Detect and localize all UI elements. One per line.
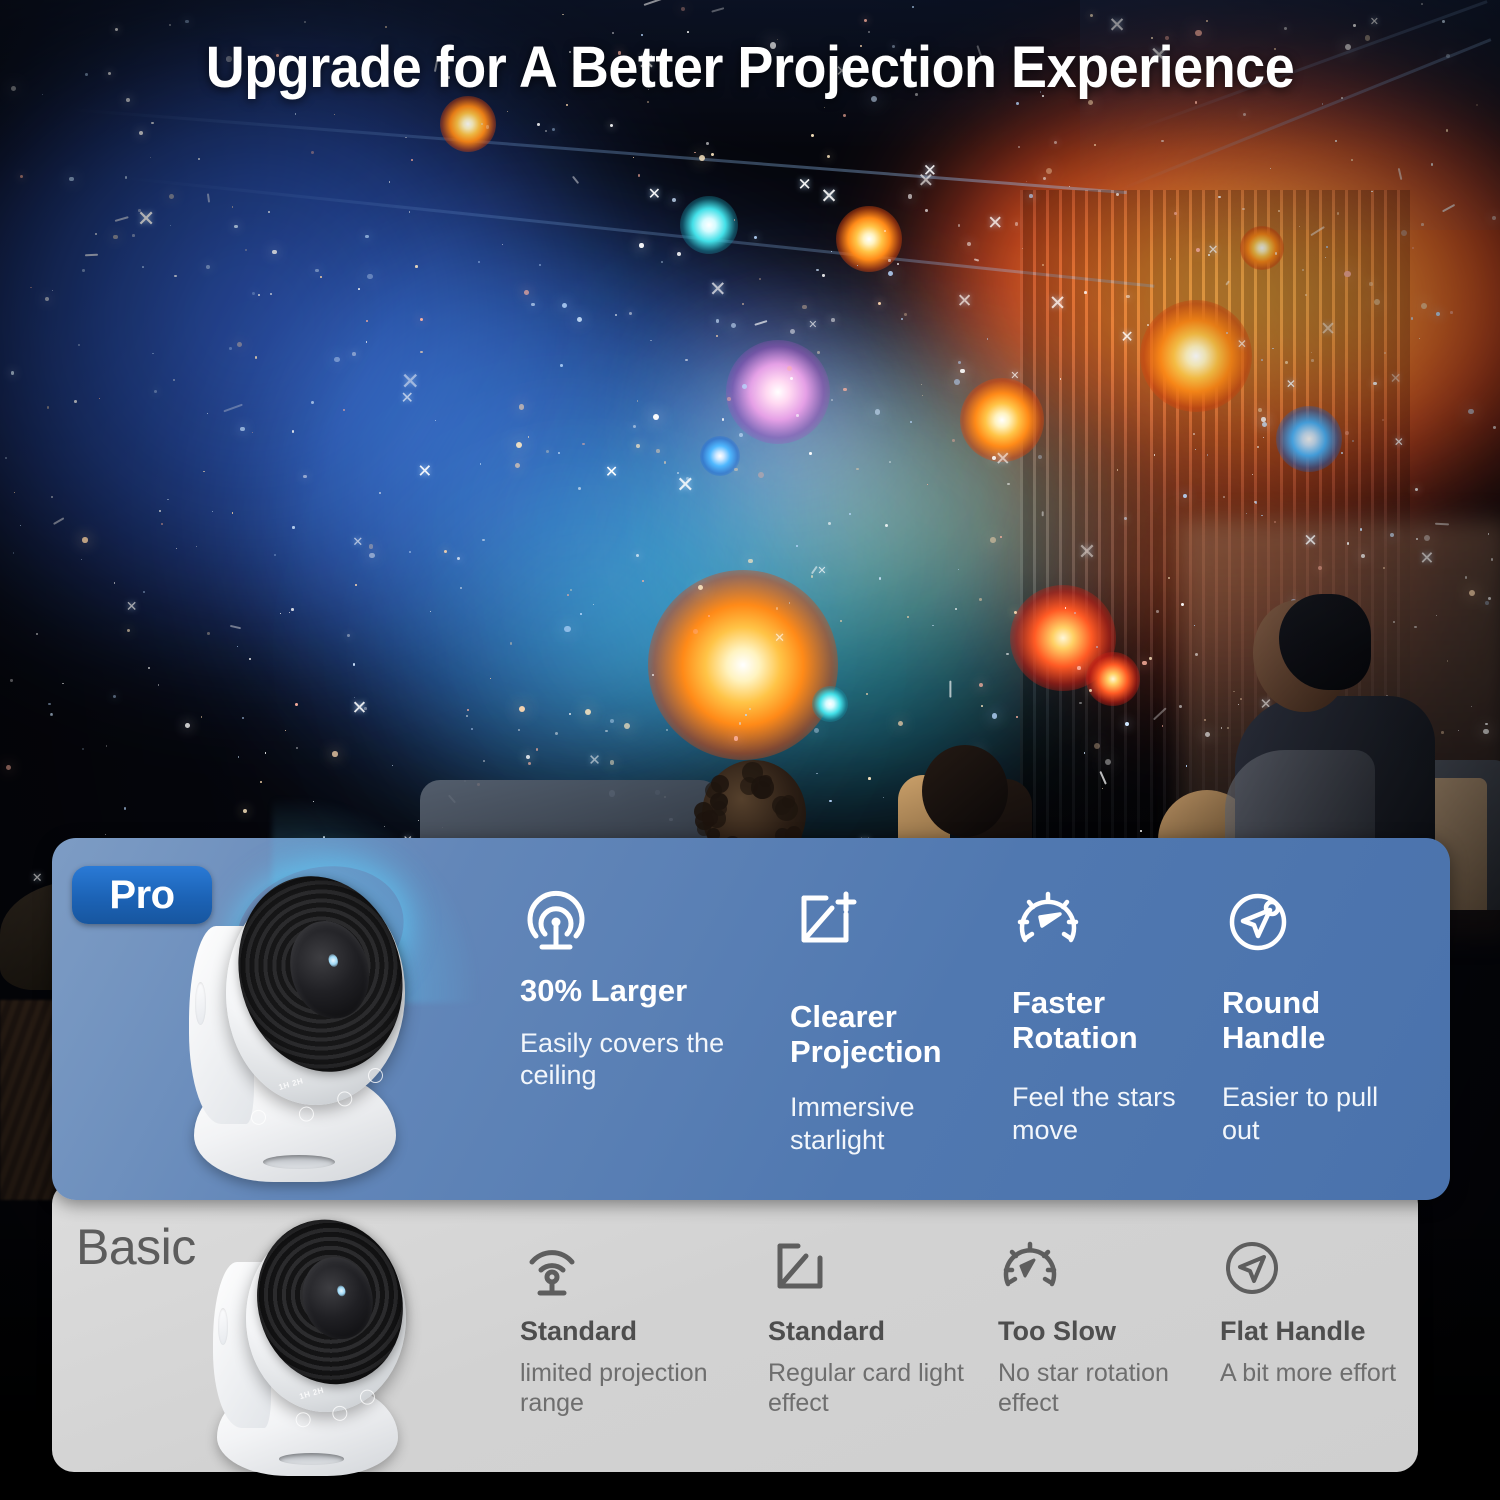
basic-feature-subtitle: A bit more effort <box>1220 1358 1402 1388</box>
round-handle-icon <box>1222 886 1414 960</box>
basic-feature-title: Standard <box>768 1316 980 1346</box>
product-comparison-graphic: ✕✕✕✕✕✕✕✕✕✕✕✕✕✕✕✕✕✕✕✕✕✕✕✕✕✕✕✕✕✕✕✕✕✕✕✕✕✕✕✕… <box>0 0 1500 1500</box>
basic-feature-2: Too Slow No star rotation effect <box>998 1236 1220 1418</box>
pro-tier-badge: Pro <box>72 866 212 924</box>
page-title: Upgrade for A Better Projection Experien… <box>53 34 1448 101</box>
broadcast-narrow-icon <box>520 1236 750 1310</box>
pro-feature-title: Clearer Projection <box>790 1000 994 1069</box>
broadcast-wide-icon <box>520 886 772 960</box>
basic-feature-title: Standard <box>520 1316 750 1346</box>
pro-feature-title: 30% Larger <box>520 974 772 1009</box>
basic-feature-1: Standard Regular card light effect <box>768 1236 998 1418</box>
basic-feature-subtitle: No star rotation effect <box>998 1358 1202 1418</box>
flat-handle-icon <box>1220 1236 1402 1310</box>
pro-feature-subtitle: Easier to pull out <box>1222 1081 1414 1146</box>
basic-feature-title: Flat Handle <box>1220 1316 1402 1346</box>
pro-feature-3: Round Handle Easier to pull out <box>1222 886 1432 1156</box>
pro-feature-list: 30% Larger Easily covers the ceiling Cle… <box>520 886 1440 1156</box>
pro-feature-subtitle: Easily covers the ceiling <box>520 1027 772 1092</box>
basic-feature-3: Flat Handle A bit more effort <box>1220 1236 1420 1418</box>
pro-feature-2: Faster Rotation Feel the stars move <box>1012 886 1222 1156</box>
pro-feature-title: Faster Rotation <box>1012 986 1204 1055</box>
basic-feature-subtitle: Regular card light effect <box>768 1358 980 1418</box>
pro-projector-image: 1H 2H <box>180 862 410 1182</box>
pro-feature-subtitle: Feel the stars move <box>1012 1081 1204 1146</box>
basic-feature-list: Standard limited projection range Standa… <box>520 1236 1420 1418</box>
pro-feature-0: 30% Larger Easily covers the ceiling <box>520 886 790 1156</box>
pro-feature-subtitle: Immersive starlight <box>790 1091 994 1156</box>
pro-feature-title: Round Handle <box>1222 986 1414 1055</box>
image-plus-icon <box>790 886 994 960</box>
basic-feature-subtitle: limited projection range <box>520 1358 750 1418</box>
basic-feature-0: Standard limited projection range <box>520 1236 768 1418</box>
pro-feature-1: Clearer Projection Immersive starlight <box>790 886 1012 1156</box>
basic-tier-label: Basic <box>76 1218 196 1276</box>
speedometer-fast-icon <box>1012 886 1204 960</box>
image-icon <box>768 1236 980 1310</box>
speedometer-slow-icon <box>998 1236 1202 1310</box>
basic-feature-title: Too Slow <box>998 1316 1202 1346</box>
basic-projector-image: 1H 2H <box>205 1208 410 1476</box>
